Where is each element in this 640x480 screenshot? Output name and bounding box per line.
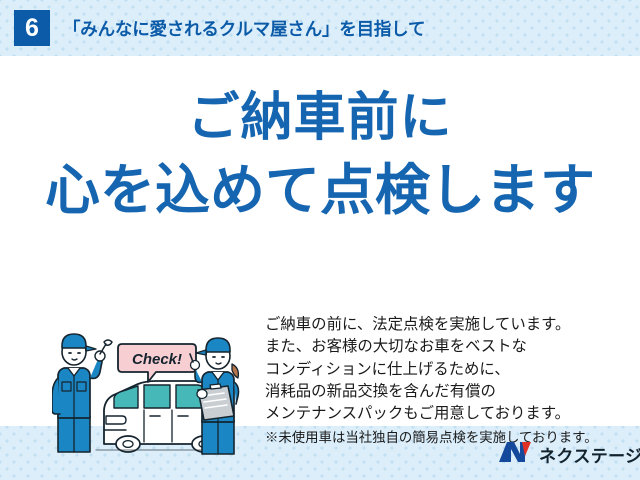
body-line-3: コンディションに仕上げるために、 bbox=[265, 359, 625, 381]
check-bubble-label: Check! bbox=[132, 351, 182, 368]
headline-line-1: ご納車前に bbox=[0, 84, 640, 154]
mechanics-illustration: Check! bbox=[52, 324, 262, 456]
male-mechanic bbox=[52, 334, 112, 452]
body-line-2: また、お客様の大切なお車をベストな bbox=[265, 336, 625, 358]
footer-brand-logo: ネクステージ bbox=[498, 440, 640, 468]
body-line-4: 消耗品の新品交換を含んだ有償の bbox=[265, 381, 625, 403]
body-line-1: ご納車の前に、法定点検を実施しています。 bbox=[265, 314, 625, 336]
section-number-badge: 6 bbox=[14, 10, 50, 46]
headline: ご納車前に 心を込めて点検します bbox=[0, 84, 640, 227]
content-panel: ご納車前に 心を込めて点検します ご納車の前に、法定点検を実施しています。 また… bbox=[0, 56, 640, 426]
brand-name: ネクステージ bbox=[539, 442, 640, 467]
body-copy: ご納車の前に、法定点検を実施しています。 また、お客様の大切なお車をベストな コ… bbox=[265, 314, 625, 448]
headline-line-2: 心を込めて点検します bbox=[0, 154, 640, 228]
body-line-5: メンテナンスパックもご用意しております。 bbox=[265, 403, 625, 425]
header-title: 「みんなに愛されるクルマ屋さん」を目指して bbox=[63, 16, 425, 41]
nextage-n-mark-icon bbox=[498, 441, 532, 468]
header: 6 「みんなに愛されるクルマ屋さん」を目指して bbox=[0, 0, 640, 56]
